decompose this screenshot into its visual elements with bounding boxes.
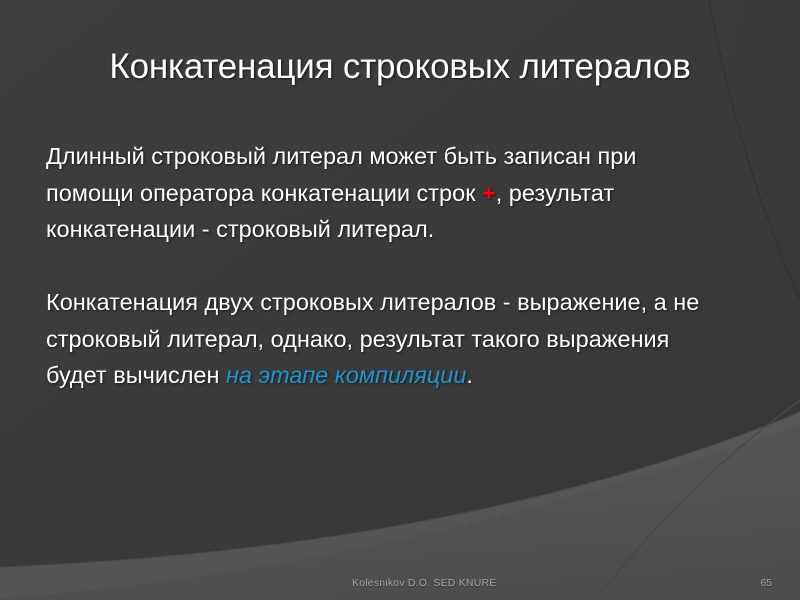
paragraph-2-text-after-emphasis: . xyxy=(466,362,473,388)
slide-body: Длинный строковый литерал может быть зап… xyxy=(46,138,706,394)
body-paragraph-2: Конкатенация двух строковых литералов - … xyxy=(46,284,706,394)
slide-number-badge: 65 xyxy=(742,577,772,589)
concatenation-operator-symbol: + xyxy=(482,180,496,206)
footer-attribution: Kolesnikov D.O. SED KNURE xyxy=(352,577,496,589)
page-title: Конкатенация строковых литералов xyxy=(60,45,740,89)
compile-time-emphasis: на этапе компиляции xyxy=(226,362,466,388)
presentation-slide: Конкатенация строковых литералов Длинный… xyxy=(0,0,800,600)
body-paragraph-1: Длинный строковый литерал может быть зап… xyxy=(46,138,706,248)
